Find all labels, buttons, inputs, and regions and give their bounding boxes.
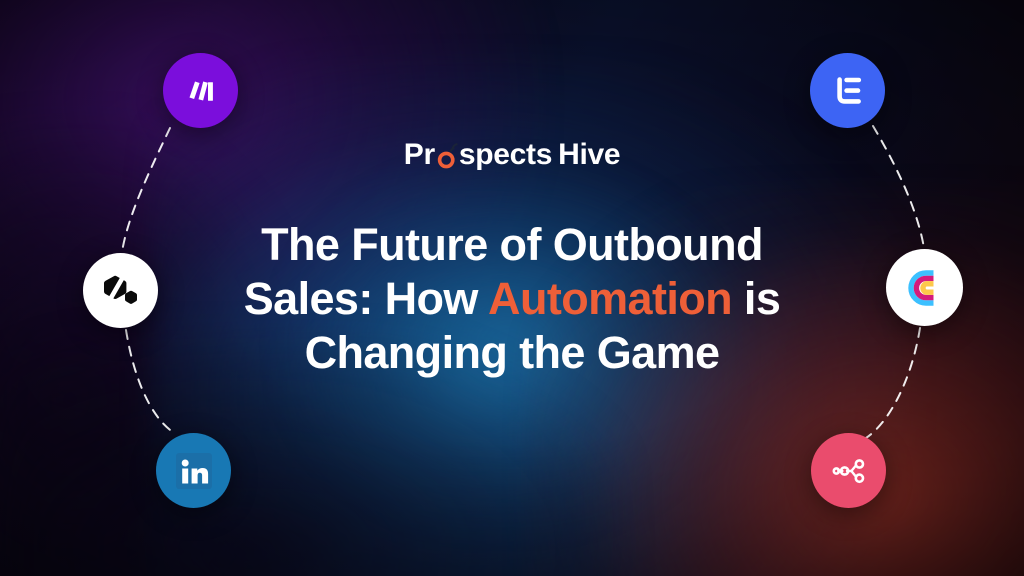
headline-line-3: Changing the Game bbox=[182, 326, 842, 380]
headline: The Future of Outbound Sales: How Automa… bbox=[182, 218, 842, 380]
center-content: Pr spects Hive The Future of Outbound Sa… bbox=[0, 0, 1024, 576]
brand-logo-prospects: Pr spects bbox=[404, 140, 552, 170]
brand-logo-suffix: spects bbox=[459, 140, 552, 170]
brand-logo: Pr spects Hive bbox=[404, 140, 621, 170]
headline-line-2: Sales: How Automation is bbox=[182, 272, 842, 326]
headline-line-1: The Future of Outbound bbox=[182, 218, 842, 272]
headline-line-2-post: is bbox=[732, 273, 780, 324]
cover-graphic: Pr spects Hive The Future of Outbound Sa… bbox=[0, 0, 1024, 576]
brand-logo-prefix: Pr bbox=[404, 140, 435, 170]
brand-logo-hive: Hive bbox=[558, 140, 620, 170]
headline-accent-automation: Automation bbox=[488, 273, 732, 324]
headline-line-2-pre: Sales: How bbox=[244, 273, 488, 324]
orange-o-signal-icon bbox=[436, 140, 458, 170]
